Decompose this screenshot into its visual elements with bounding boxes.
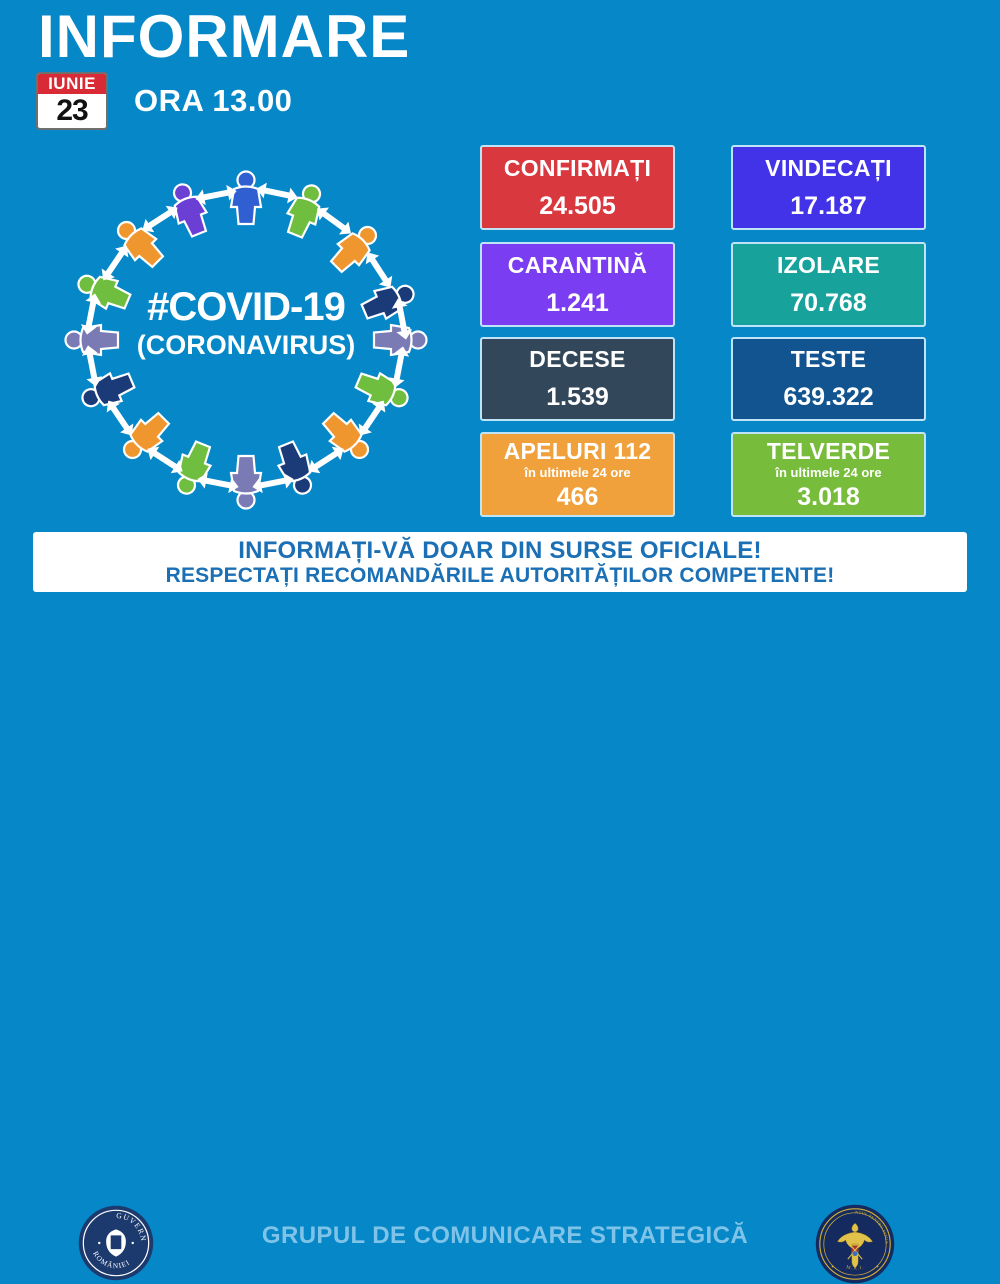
footer-organisation-label: GRUPUL DE COMUNICARE STRATEGICĂ xyxy=(205,1222,805,1250)
dsu-mai-seal-icon: DEPARTAMENTUL PENTRU SITUAȚII DE URGENȚĂ… xyxy=(815,1204,895,1284)
stat-vindecati: VINDECAȚI 17.187 xyxy=(731,145,926,230)
stat-label: CARANTINĂ xyxy=(508,252,647,279)
calendar-day: 23 xyxy=(38,94,106,128)
page-title: INFORMARE xyxy=(38,2,410,72)
stat-confirmati: CONFIRMAȚI 24.505 xyxy=(480,145,675,230)
time-label: ORA 13.00 xyxy=(134,83,292,119)
stat-label: CONFIRMAȚI xyxy=(504,155,651,182)
banner-line-2: RESPECTAȚI RECOMANDĂRILE AUTORITĂȚILOR C… xyxy=(166,564,835,588)
official-sources-banner: INFORMAȚI-VĂ DOAR DIN SURSE OFICIALE! RE… xyxy=(33,532,967,592)
stat-subtitle: în ultimele 24 ore xyxy=(775,465,881,480)
stat-telverde: TELVERDE în ultimele 24 ore 3.018 xyxy=(731,432,926,517)
stat-value: 17.187 xyxy=(790,191,866,221)
footer: GUVERNUL ROMÂNIEI GRUPUL DE COMUNICARE S… xyxy=(0,600,1000,688)
stat-label: TELVERDE xyxy=(767,438,890,465)
informare-poster: INFORMARE IUNIE 23 ORA 13.00 xyxy=(0,0,1000,688)
calendar-month: IUNIE xyxy=(38,74,106,94)
calendar-icon: IUNIE 23 xyxy=(36,72,108,130)
stat-value: 70.768 xyxy=(790,288,866,318)
stat-value: 1.241 xyxy=(546,288,609,318)
stat-subtitle: în ultimele 24 ore xyxy=(524,465,630,480)
stat-value: 3.018 xyxy=(797,482,860,512)
banner-line-1: INFORMAȚI-VĂ DOAR DIN SURSE OFICIALE! xyxy=(238,537,761,564)
date-time-bar: IUNIE 23 ORA 13.00 xyxy=(36,72,292,130)
stat-value: 24.505 xyxy=(539,191,615,221)
stat-value: 466 xyxy=(557,482,599,512)
stats-grid: CONFIRMAȚI 24.505 VINDECAȚI 17.187 CARAN… xyxy=(480,145,926,517)
stat-teste: TESTE 639.322 xyxy=(731,337,926,421)
stat-value: 1.539 xyxy=(546,382,609,412)
stat-label: DECESE xyxy=(529,346,625,373)
stat-label: APELURI 112 xyxy=(504,438,652,465)
covid-people-circle-icon: #COVID-19 (CORONAVIRUS) xyxy=(36,165,456,515)
stat-label: VINDECAȚI xyxy=(765,155,892,182)
stat-apeluri-112: APELURI 112 în ultimele 24 ore 466 xyxy=(480,432,675,517)
guvernul-romaniei-seal-icon: GUVERNUL ROMÂNIEI xyxy=(78,1205,154,1281)
stat-decese: DECESE 1.539 xyxy=(480,337,675,421)
stat-value: 639.322 xyxy=(783,382,873,412)
stat-label: TESTE xyxy=(791,346,867,373)
stat-carantina: CARANTINĂ 1.241 xyxy=(480,242,675,327)
stat-label: IZOLARE xyxy=(777,252,880,279)
stat-izolare: IZOLARE 70.768 xyxy=(731,242,926,327)
